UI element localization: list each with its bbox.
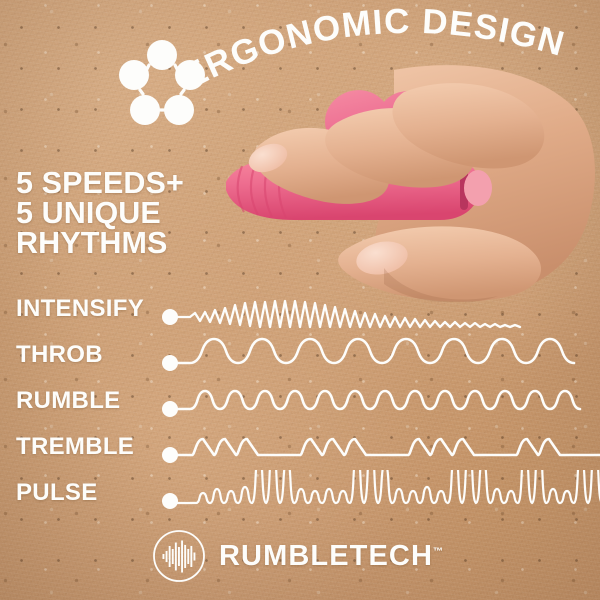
pulse-waveform bbox=[0, 470, 600, 516]
throb-waveform bbox=[0, 332, 600, 378]
audio-waveform-circle-logo bbox=[152, 529, 206, 583]
product-feature-poster: ERGONOMIC DESIGN bbox=[0, 0, 600, 600]
headline-line-2: 5 UNIQUE bbox=[16, 198, 184, 228]
intensify-waveform bbox=[0, 286, 600, 332]
brand-name: RUMBLETECH bbox=[219, 540, 433, 572]
rhythm-row-intensify[interactable]: INTENSIFY bbox=[0, 286, 600, 332]
rhythm-row-tremble[interactable]: TREMBLE bbox=[0, 424, 600, 470]
tremble-waveform bbox=[0, 424, 600, 470]
brand-name-lockup: RUMBLETECH™ bbox=[219, 540, 443, 573]
rhythm-row-pulse[interactable]: PULSE bbox=[0, 470, 600, 516]
hand-holding-product-photo bbox=[198, 62, 600, 302]
product-base-cap bbox=[464, 170, 492, 206]
headline-line-3: RHYTHMS bbox=[16, 228, 184, 258]
trademark-symbol: ™ bbox=[433, 546, 443, 557]
headline-line-1: 5 SPEEDS+ bbox=[16, 168, 184, 198]
rhythm-list: INTENSIFY THROB RUMBLE TREMBLE bbox=[0, 286, 600, 518]
rhythm-row-throb[interactable]: THROB bbox=[0, 332, 600, 378]
page-headline: 5 SPEEDS+ 5 UNIQUE RHYTHMS bbox=[16, 168, 184, 259]
rhythm-row-rumble[interactable]: RUMBLE bbox=[0, 378, 600, 424]
brand-lockup: RUMBLETECH™ bbox=[152, 528, 443, 584]
rumble-waveform bbox=[0, 378, 600, 424]
